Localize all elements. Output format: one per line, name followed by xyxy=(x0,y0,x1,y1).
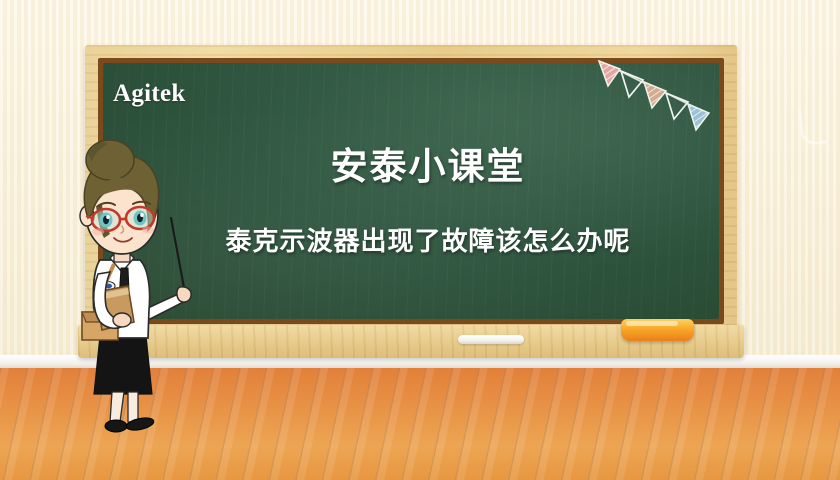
cartoon-teacher xyxy=(48,140,208,440)
agitek-logo: Agitek xyxy=(113,80,186,108)
pointer-stick-icon xyxy=(171,218,185,293)
chalk-stick-icon xyxy=(458,335,524,344)
teacher-skirt xyxy=(94,336,152,394)
teacher-shoe-left xyxy=(105,420,127,432)
teacher-hand xyxy=(177,287,191,302)
teacher-hair-bun xyxy=(86,140,134,180)
board-eraser-icon xyxy=(621,319,694,341)
title-card-scene: Agitek 安泰小课堂 泰克示波器出现了故障该怎么办呢 xyxy=(0,0,840,480)
